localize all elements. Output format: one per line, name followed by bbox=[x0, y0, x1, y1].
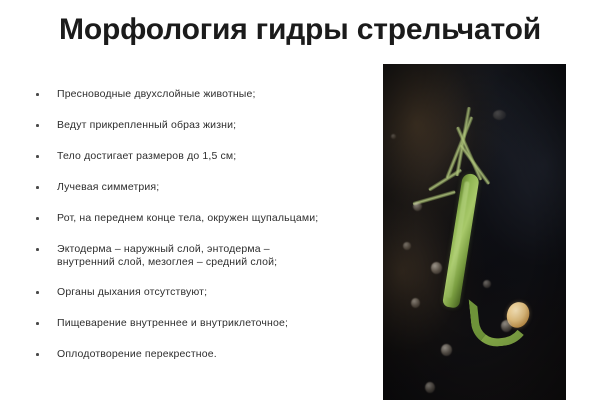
list-item-label: Эктодерма – наружный слой, энтодерма – в… bbox=[57, 243, 370, 269]
photo-vignette bbox=[383, 64, 566, 400]
list-item-label: Оплодотворение перекрестное. bbox=[57, 348, 370, 361]
list-item: Лучевая симметрия; bbox=[30, 181, 370, 194]
list-item-label: Лучевая симметрия; bbox=[57, 181, 370, 194]
list-item-label: Тело достигает размеров до 1,5 см; bbox=[57, 150, 370, 163]
list-item-label: Органы дыхания отсутствуют; bbox=[57, 286, 370, 299]
bullet-dot-icon bbox=[36, 322, 39, 325]
bullet-dot-icon bbox=[36, 93, 39, 96]
list-item: Пресноводные двухслойные животные; bbox=[30, 88, 370, 101]
list-item: Органы дыхания отсутствуют; bbox=[30, 286, 370, 299]
list-item-label: Ведут прикрепленный образ жизни; bbox=[57, 119, 370, 132]
bullet-dot-icon bbox=[36, 217, 39, 220]
bullet-dot-icon bbox=[36, 155, 39, 158]
presentation-slide: Морфология гидры стрельчатой Пресноводны… bbox=[0, 0, 600, 400]
list-item: Тело достигает размеров до 1,5 см; bbox=[30, 150, 370, 163]
list-item: Ведут прикрепленный образ жизни; bbox=[30, 119, 370, 132]
bullet-dot-icon bbox=[36, 353, 39, 356]
list-item-label: Рот, на переднем конце тела, окружен щуп… bbox=[57, 212, 370, 225]
bullet-dot-icon bbox=[36, 291, 39, 294]
list-item-label: Пищеварение внутреннее и внутриклеточное… bbox=[57, 317, 370, 330]
list-item: Пищеварение внутреннее и внутриклеточное… bbox=[30, 317, 370, 330]
bullet-list: Пресноводные двухслойные животные; Ведут… bbox=[30, 88, 370, 379]
bullet-dot-icon bbox=[36, 186, 39, 189]
list-item-label: Пресноводные двухслойные животные; bbox=[57, 88, 370, 101]
list-item: Эктодерма – наружный слой, энтодерма – в… bbox=[30, 243, 370, 269]
slide-title: Морфология гидры стрельчатой bbox=[0, 10, 600, 50]
list-item: Рот, на переднем конце тела, окружен щуп… bbox=[30, 212, 370, 225]
bullet-dot-icon bbox=[36, 124, 39, 127]
bullet-dot-icon bbox=[36, 248, 39, 251]
list-item: Оплодотворение перекрестное. bbox=[30, 348, 370, 361]
hydra-photo bbox=[383, 64, 566, 400]
